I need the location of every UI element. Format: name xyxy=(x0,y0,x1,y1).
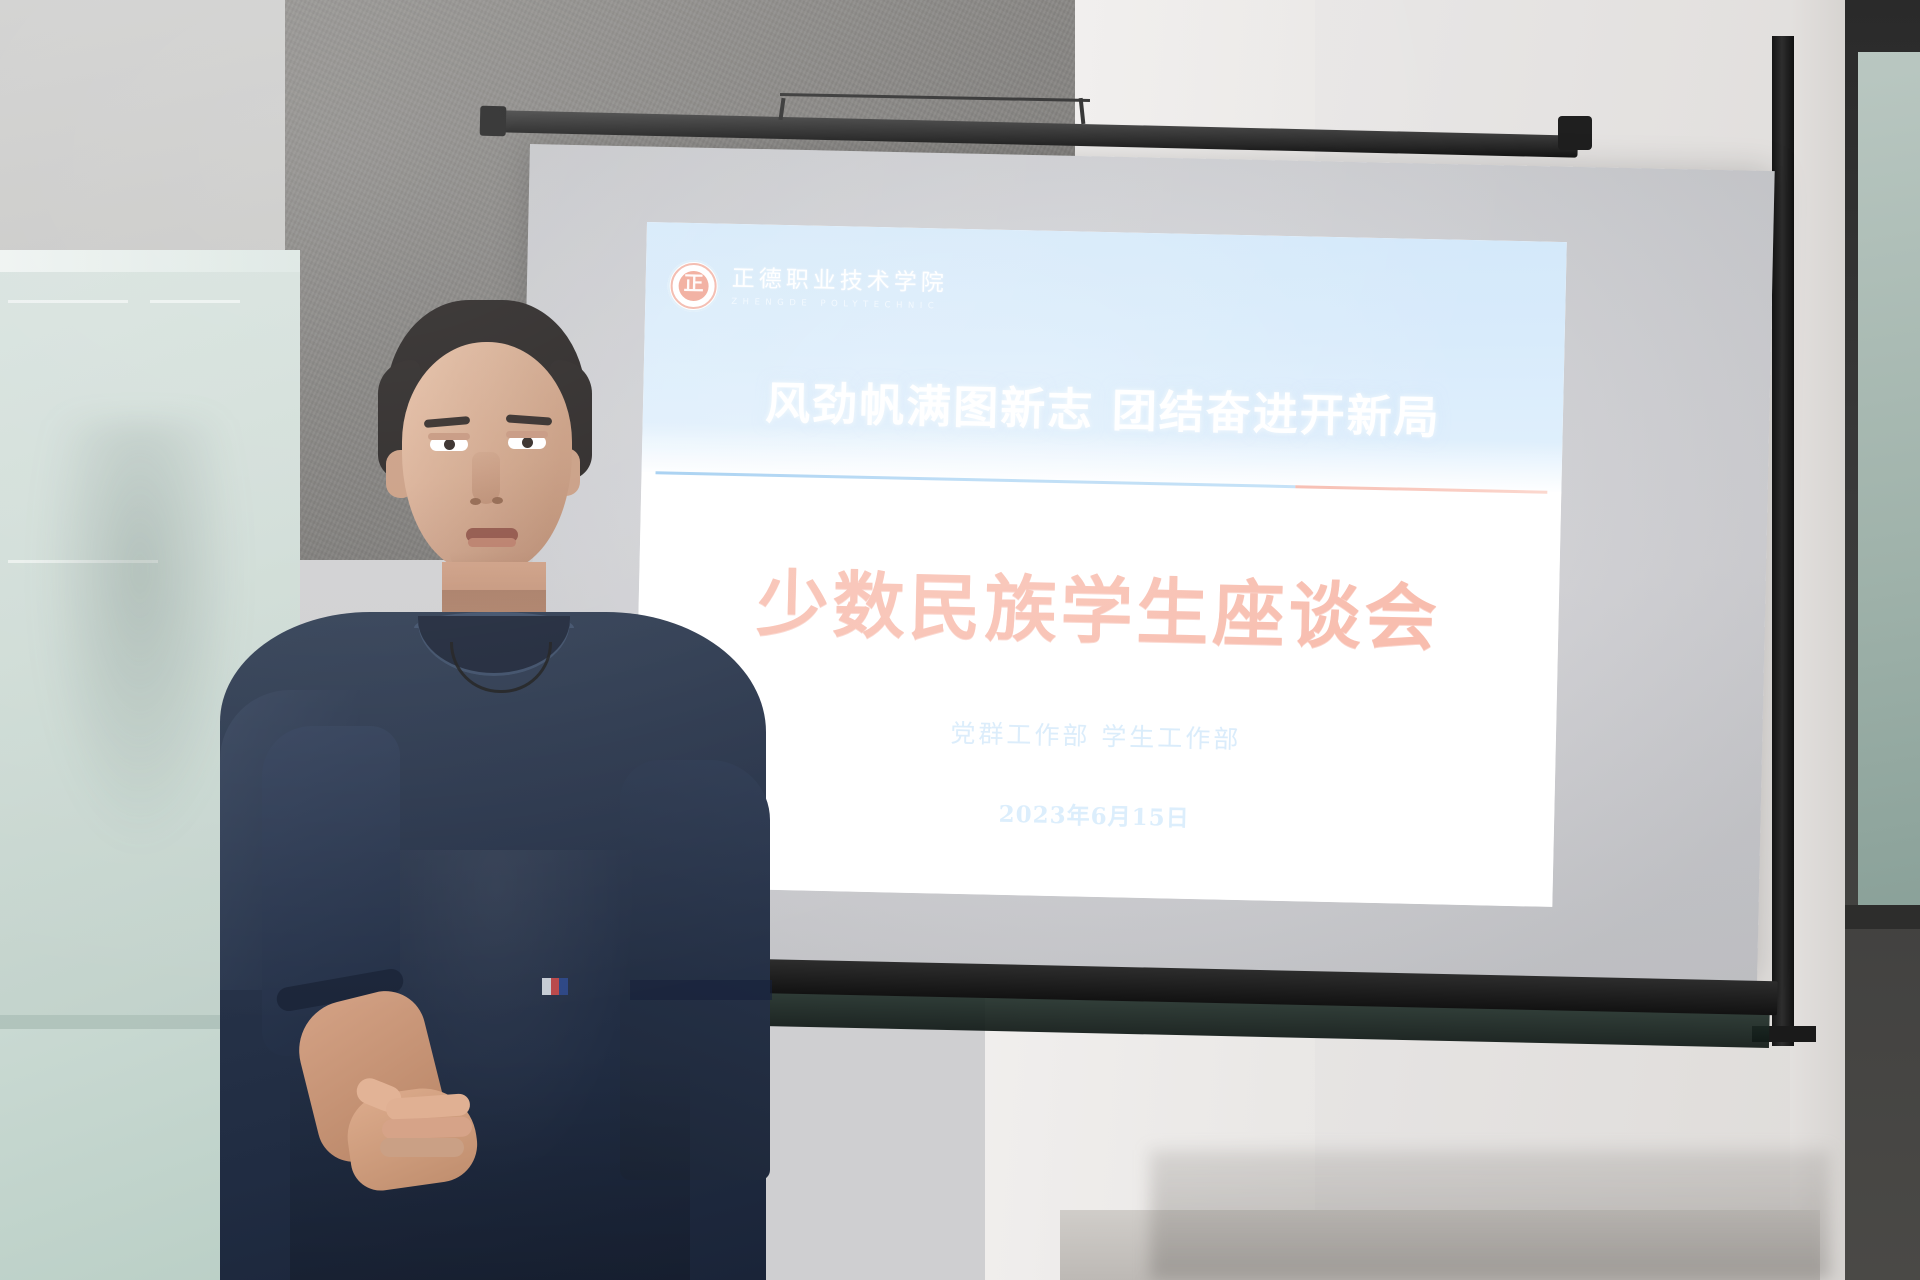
pupil-right xyxy=(522,437,533,448)
sleeve-hem-right xyxy=(630,980,772,1000)
presentation-slide: 正 正德职业技术学院 ZHENGDE POLYTECHNIC 风劲帆满图新志 团… xyxy=(632,222,1566,907)
slide-main-title: 少数民族学生座谈会 xyxy=(638,542,1560,667)
slide-body xyxy=(632,472,1561,907)
finger-middle xyxy=(382,1116,473,1139)
nostril-right xyxy=(492,497,503,504)
screenshot-scene: 正 正德职业技术学院 ZHENGDE POLYTECHNIC 风劲帆满图新志 团… xyxy=(0,0,1920,1280)
floor-shadow xyxy=(1150,1150,1830,1280)
pupil-left xyxy=(444,439,455,450)
nostril-left xyxy=(470,498,481,505)
eyelid-right xyxy=(506,431,548,438)
roller-cap-left xyxy=(480,106,507,137)
screen-support-post-right xyxy=(1772,36,1794,1046)
eyelid-left xyxy=(428,433,470,440)
roller-cap-right xyxy=(1558,116,1592,150)
glass-top-rail xyxy=(0,250,300,272)
lower-lip xyxy=(468,538,516,547)
flag-logo-icon xyxy=(542,978,568,995)
glass-frost-stripe xyxy=(8,300,128,303)
door-frame-bottom xyxy=(1845,905,1920,929)
door-glass-pane xyxy=(1858,52,1920,912)
finger-ring xyxy=(380,1138,464,1157)
presenter xyxy=(150,290,770,1280)
